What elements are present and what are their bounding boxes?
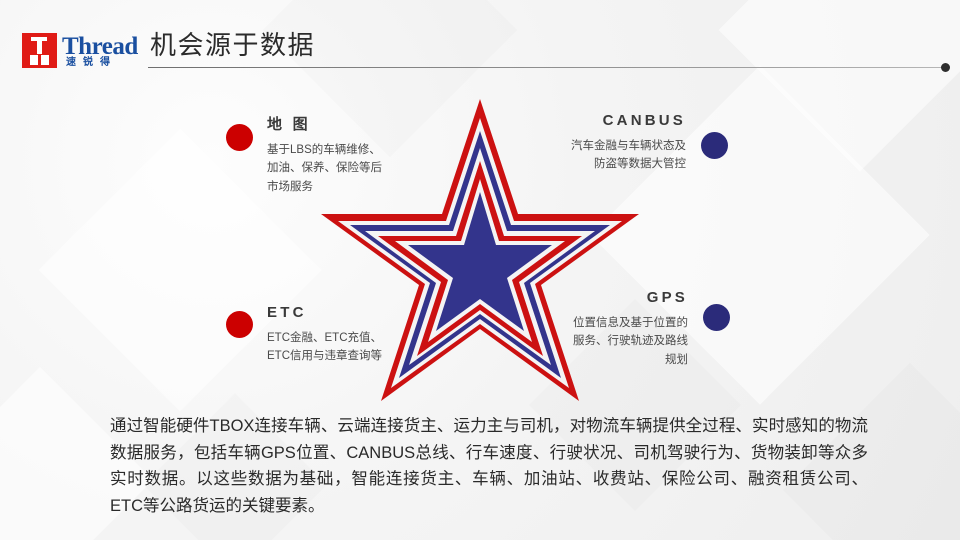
title-divider: [148, 67, 946, 68]
callout-dot-red-icon: [226, 311, 253, 338]
title-divider-end-dot: [941, 63, 950, 72]
callout-etc-title: ETC: [267, 305, 416, 322]
callout-map-text: 地 图 基于LBS的车辆维修、 加油、保养、保险等后 市场服务: [267, 117, 406, 196]
brand-wordmark: Thread: [62, 34, 138, 59]
logo-mark-stem: [37, 37, 42, 54]
callout-canbus-text: CANBUS 汽车金融与车辆状态及 防盗等数据大管控: [528, 113, 686, 174]
brand-logo-icon: [22, 33, 57, 68]
callout-dot-blue-icon: [703, 304, 730, 331]
callout-canbus-title: CANBUS: [528, 113, 686, 130]
callout-gps[interactable]: GPS 位置信息及基于位置的 服务、行驶轨迹及路线 规划: [540, 290, 730, 369]
background-diamond: [719, 0, 960, 171]
callout-gps-title: GPS: [540, 290, 688, 307]
callout-gps-body: 位置信息及基于位置的 服务、行驶轨迹及路线 规划: [540, 314, 688, 370]
callout-map-title: 地 图: [267, 117, 406, 134]
brand-wordmark-cn: 速锐得: [66, 58, 117, 68]
callout-etc-text: ETC ETC金融、ETC充值、 ETC信用与违章查询等: [267, 305, 416, 366]
page-title: 机会源于数据: [150, 30, 315, 61]
callout-dot-blue-icon: [701, 132, 728, 159]
callout-etc-body: ETC金融、ETC充值、 ETC信用与违章查询等: [267, 329, 416, 366]
callout-map[interactable]: 地 图 基于LBS的车辆维修、 加油、保养、保险等后 市场服务: [226, 117, 406, 196]
callout-canbus-body: 汽车金融与车辆状态及 防盗等数据大管控: [528, 137, 686, 174]
callout-canbus[interactable]: CANBUS 汽车金融与车辆状态及 防盗等数据大管控: [528, 113, 728, 174]
callout-etc[interactable]: ETC ETC金融、ETC充值、 ETC信用与违章查询等: [226, 305, 416, 366]
callout-map-body: 基于LBS的车辆维修、 加油、保养、保险等后 市场服务: [267, 141, 406, 197]
body-paragraph: 通过智能硬件TBOX连接车辆、云端连接货主、运力主与司机，对物流车辆提供全过程、…: [110, 413, 868, 520]
slide-canvas: Thread 速锐得 机会源于数据: [0, 0, 960, 540]
callout-dot-red-icon: [226, 124, 253, 151]
logo-mark-box-line: [38, 55, 41, 65]
callout-gps-text: GPS 位置信息及基于位置的 服务、行驶轨迹及路线 规划: [540, 290, 688, 369]
